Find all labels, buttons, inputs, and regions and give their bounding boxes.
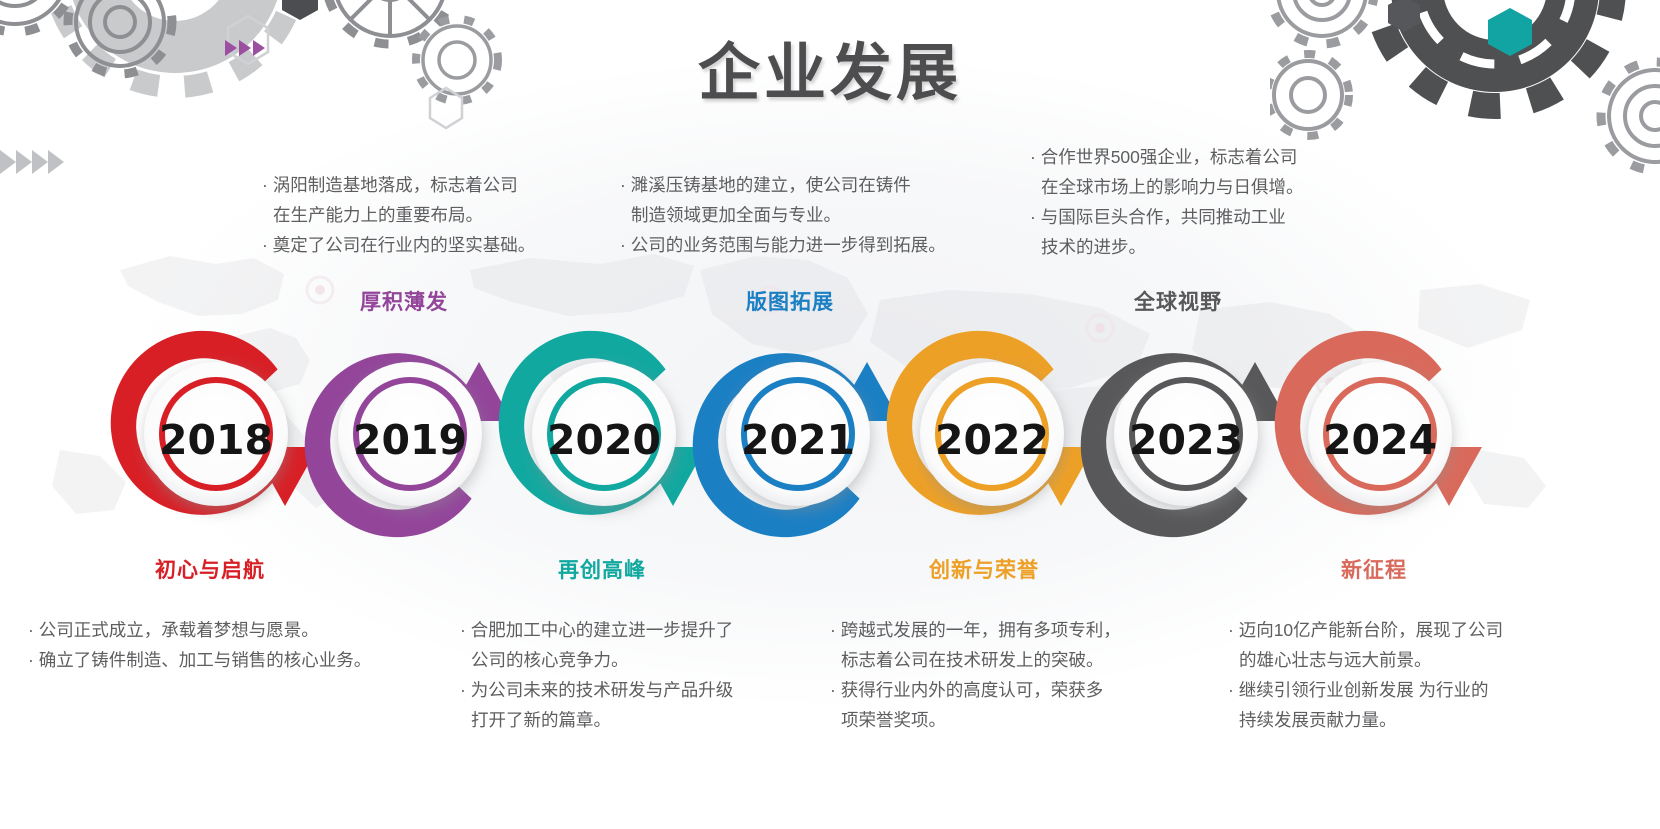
caption-2018: 初心与启航 [155, 554, 265, 584]
caption-2020: 再创高峰 [558, 554, 646, 584]
note-line: · 与国际巨头合作，共同推动工业 技术的进步。 [1030, 202, 1360, 262]
note-2020b: · 合肥加工中心的建立进一步提升了 公司的核心竞争力。 · 为公司未来的技术研发… [460, 615, 780, 735]
note-line: · 获得行业内外的高度认可，荣获多 项荣誉奖项。 [830, 675, 1180, 735]
note-line: · 公司正式成立，承载着梦想与愿景。 [28, 615, 428, 645]
note-line: · 迈向10亿产能新台阶，展现了公司 的雄心壮志与远大前景。 [1228, 615, 1568, 675]
caption-2021: 版图拓展 [746, 286, 834, 316]
note-2018b: · 公司正式成立，承载着梦想与愿景。 · 确立了铸件制造、加工与销售的核心业务。 [28, 615, 428, 675]
note-2018: · 涡阳制造基地落成，标志着公司 在生产能力上的重要布局。 · 奠定了公司在行业… [262, 170, 562, 260]
note-line: · 继续引领行业创新发展 为行业的 持续发展贡献力量。 [1228, 675, 1568, 735]
note-line: · 确立了铸件制造、加工与销售的核心业务。 [28, 645, 428, 675]
note-line: · 合作世界500强企业，标志着公司 在全球市场上的影响力与日俱增。 [1030, 142, 1360, 202]
note-line: · 濉溪压铸基地的建立，使公司在铸件 制造领域更加全面与专业。 [620, 170, 980, 230]
note-line: · 奠定了公司在行业内的坚实基础。 [262, 230, 562, 260]
caption-2022: 创新与荣誉 [929, 554, 1039, 584]
note-line: · 合肥加工中心的建立进一步提升了 公司的核心竞争力。 [460, 615, 780, 675]
note-line: · 公司的业务范围与能力进一步得到拓展。 [620, 230, 980, 260]
caption-2019: 厚积薄发 [360, 286, 448, 316]
timeline-node-2024[interactable]: 2024 [1260, 318, 1500, 563]
page-title: 企业发展 [0, 22, 1660, 112]
note-2023: · 合作世界500强企业，标志着公司 在全球市场上的影响力与日俱增。 · 与国际… [1030, 142, 1360, 262]
arrow-marks-left [0, 120, 300, 210]
caption-2023: 全球视野 [1134, 286, 1222, 316]
note-2022b: · 跨越式发展的一年，拥有多项专利， 标志着公司在技术研发上的突破。 · 获得行… [830, 615, 1180, 735]
caption-2024: 新征程 [1341, 554, 1407, 584]
timeline-track: 2018 2019 [0, 318, 1660, 563]
note-2020: · 濉溪压铸基地的建立，使公司在铸件 制造领域更加全面与专业。 · 公司的业务范… [620, 170, 980, 260]
note-line: · 为公司未来的技术研发与产品升级 打开了新的篇章。 [460, 675, 780, 735]
note-2024b: · 迈向10亿产能新台阶，展现了公司 的雄心壮志与远大前景。 · 继续引领行业创… [1228, 615, 1568, 735]
note-line: · 涡阳制造基地落成，标志着公司 在生产能力上的重要布局。 [262, 170, 562, 230]
note-line: · 跨越式发展的一年，拥有多项专利， 标志着公司在技术研发上的突破。 [830, 615, 1180, 675]
slide-canvas: 企业发展 · 涡阳制造基地落成，标志着公司 在生产能力上的重要布局。 · 奠定了… [0, 0, 1660, 829]
